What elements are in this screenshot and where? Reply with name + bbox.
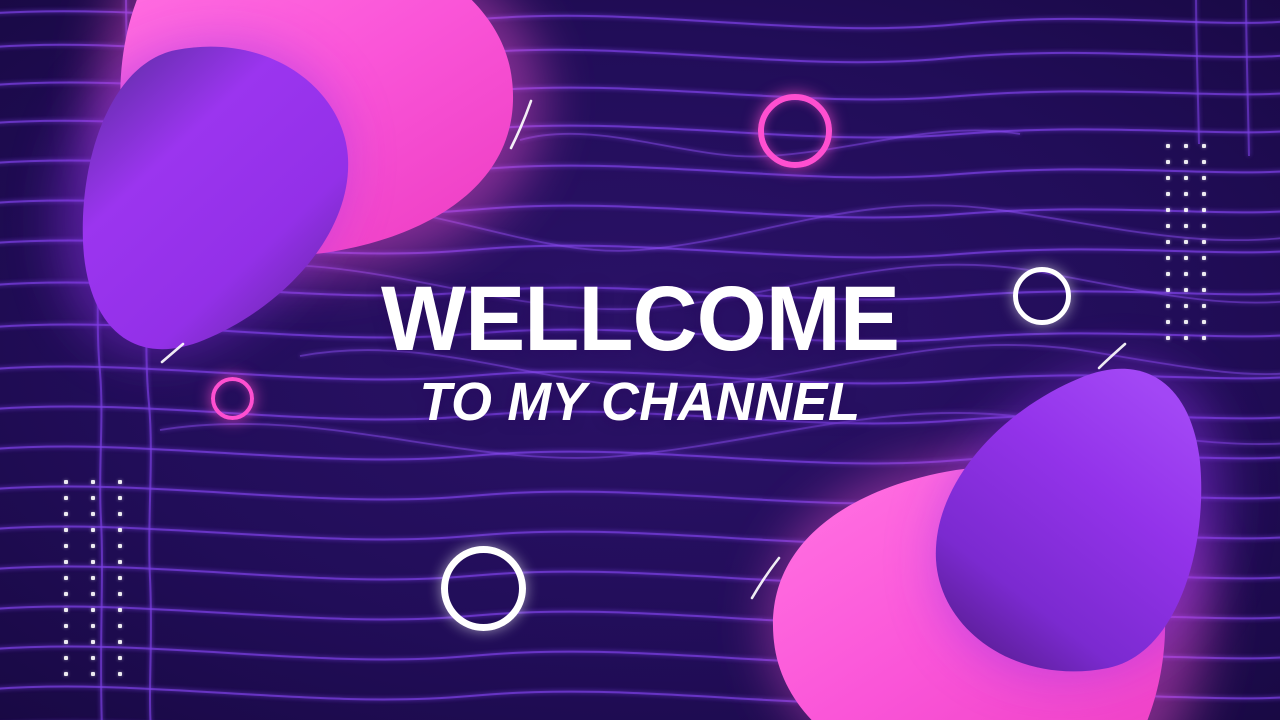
grid-dot xyxy=(1184,208,1188,212)
grid-dot xyxy=(1166,144,1170,148)
grid-dot xyxy=(1202,144,1206,148)
grid-dot xyxy=(1166,192,1170,196)
grid-dot xyxy=(1202,288,1206,292)
grid-dot xyxy=(64,608,68,612)
grid-dot xyxy=(64,528,68,532)
grid-dot xyxy=(64,576,68,580)
grid-dot xyxy=(91,560,95,564)
grid-dot xyxy=(64,656,68,660)
grid-dot xyxy=(1202,224,1206,228)
grid-dot xyxy=(1184,176,1188,180)
grid-dot xyxy=(118,560,122,564)
grid-dot xyxy=(91,544,95,548)
grid-dot xyxy=(64,592,68,596)
grid-dot xyxy=(91,608,95,612)
grid-dot xyxy=(118,640,122,644)
grid-dot xyxy=(1184,256,1188,260)
dot-grid-right xyxy=(1166,144,1220,352)
grid-dot xyxy=(1184,304,1188,308)
ring-pink-large xyxy=(758,94,832,168)
grid-dot xyxy=(1166,288,1170,292)
grid-dot xyxy=(91,496,95,500)
grid-dot xyxy=(118,608,122,612)
grid-dot xyxy=(118,672,122,676)
grid-dot xyxy=(64,672,68,676)
ring-white-small xyxy=(1013,267,1071,325)
grid-dot xyxy=(1166,240,1170,244)
ring-white-large xyxy=(441,546,526,631)
grid-dot xyxy=(1184,336,1188,340)
grid-dot xyxy=(1202,320,1206,324)
grid-dot xyxy=(1202,336,1206,340)
grid-dot xyxy=(118,624,122,628)
grid-dot xyxy=(1184,192,1188,196)
grid-dot xyxy=(1166,304,1170,308)
grid-dot xyxy=(118,592,122,596)
grid-dot xyxy=(1202,208,1206,212)
grid-dot xyxy=(91,480,95,484)
grid-dot xyxy=(91,592,95,596)
grid-dot xyxy=(91,528,95,532)
grid-dot xyxy=(1202,240,1206,244)
grid-dot xyxy=(91,672,95,676)
grid-dot xyxy=(1184,240,1188,244)
grid-dot xyxy=(1166,256,1170,260)
grid-dot xyxy=(1166,160,1170,164)
grid-dot xyxy=(1166,208,1170,212)
background-contour-layer xyxy=(0,0,1280,720)
grid-dot xyxy=(1184,144,1188,148)
grid-dot xyxy=(1184,288,1188,292)
grid-dot xyxy=(1184,224,1188,228)
grid-dot xyxy=(1184,160,1188,164)
grid-dot xyxy=(64,640,68,644)
grid-dot xyxy=(64,480,68,484)
poster-canvas: WELLCOME TO MY CHANNEL xyxy=(0,0,1280,720)
grid-dot xyxy=(1184,320,1188,324)
grid-dot xyxy=(118,480,122,484)
grid-dot xyxy=(91,512,95,516)
grid-dot xyxy=(1202,176,1206,180)
grid-dot xyxy=(1202,192,1206,196)
grid-dot xyxy=(91,624,95,628)
grid-dot xyxy=(1202,304,1206,308)
grid-dot xyxy=(1166,176,1170,180)
grid-dot xyxy=(1166,336,1170,340)
grid-dot xyxy=(1166,272,1170,276)
grid-dot xyxy=(64,496,68,500)
grid-dot xyxy=(64,624,68,628)
grid-dot xyxy=(91,640,95,644)
grid-dot xyxy=(118,656,122,660)
grid-dot xyxy=(64,560,68,564)
grid-dot xyxy=(91,576,95,580)
grid-dot xyxy=(64,544,68,548)
grid-dot xyxy=(1166,320,1170,324)
grid-dot xyxy=(1166,224,1170,228)
grid-dot xyxy=(1202,256,1206,260)
grid-dot xyxy=(118,496,122,500)
grid-dot xyxy=(64,512,68,516)
ring-pink-small xyxy=(211,377,254,420)
grid-dot xyxy=(91,656,95,660)
grid-dot xyxy=(118,544,122,548)
grid-dot xyxy=(118,576,122,580)
grid-dot xyxy=(1202,160,1206,164)
grid-dot xyxy=(1184,272,1188,276)
dot-grid-left xyxy=(64,480,145,688)
grid-dot xyxy=(1202,272,1206,276)
grid-dot xyxy=(118,512,122,516)
grid-dot xyxy=(118,528,122,532)
